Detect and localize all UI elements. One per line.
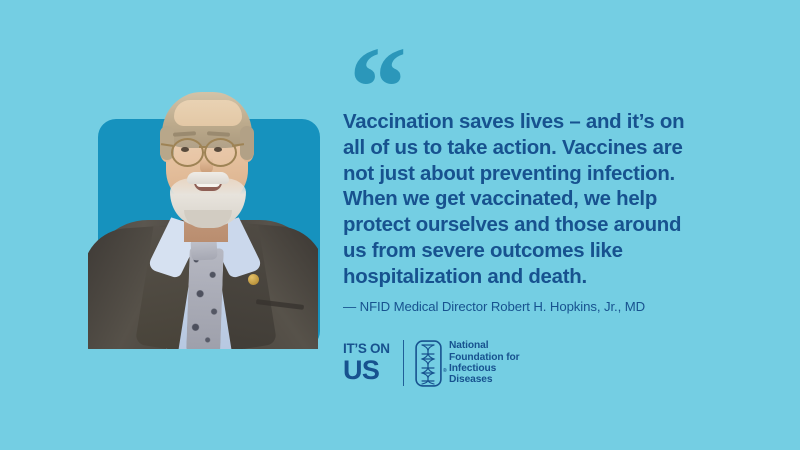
registered-trademark-symbol: ® (443, 366, 447, 377)
logo-divider (403, 340, 404, 386)
nfid-wordmark-line-4: Diseases (449, 374, 519, 385)
nfid-wordmark-line-1: National (449, 340, 519, 351)
nfid-wordmark-line-3: Infectious (449, 363, 519, 374)
quote-text: Vaccination saves lives – and it’s on al… (343, 110, 691, 291)
logo-lockup: IT’S ON US ® National Foundation for Inf… (343, 337, 520, 389)
portrait-photo (88, 78, 318, 349)
nfid-wordmark-line-2: Foundation for (449, 352, 519, 363)
nfid-wordmark: ® National Foundation for Infectious Dis… (449, 340, 519, 386)
its-on-us-line-1: IT’S ON (343, 342, 390, 356)
its-on-us-line-2: US (343, 357, 390, 384)
its-on-us-logo: IT’S ON US (343, 342, 390, 385)
nfid-dna-helix-icon (415, 340, 442, 387)
portrait-block (0, 0, 335, 450)
quote-attribution: — NFID Medical Director Robert H. Hopkin… (343, 299, 703, 314)
nfid-logo: ® National Foundation for Infectious Dis… (415, 340, 519, 387)
quote-card: “ Vaccination saves lives – and it’s on … (0, 0, 800, 450)
